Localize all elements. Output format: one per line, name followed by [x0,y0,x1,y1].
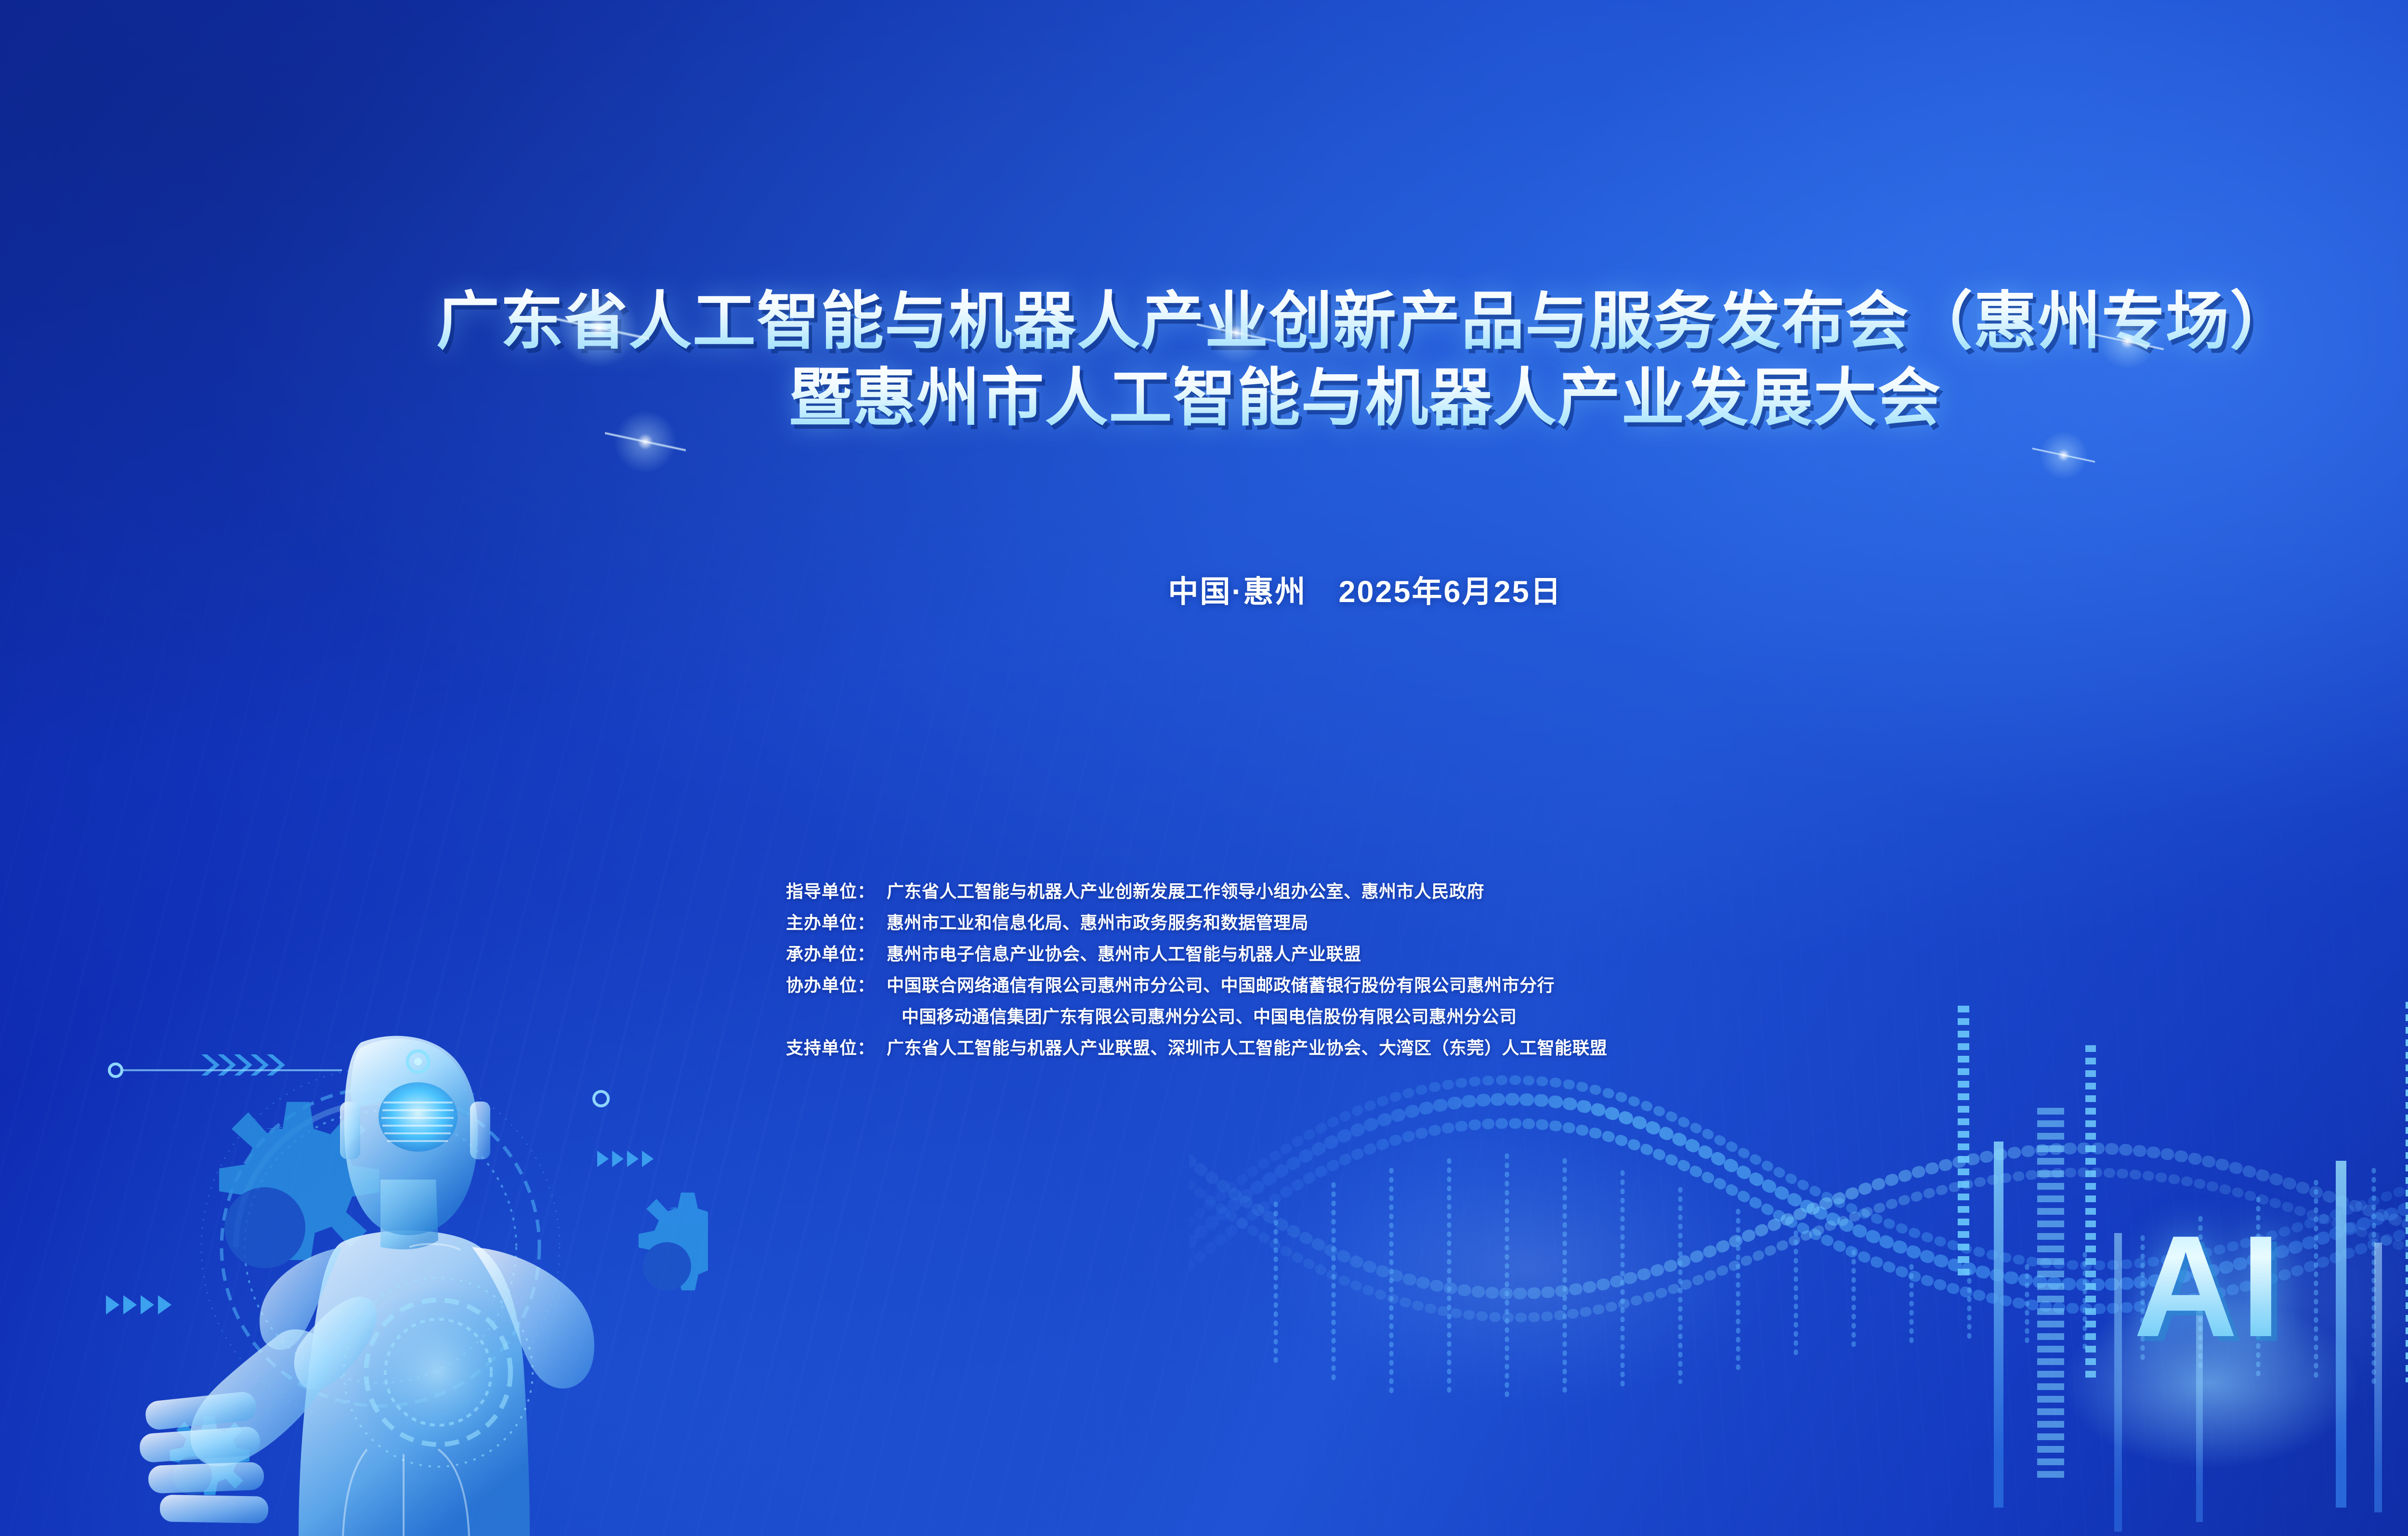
poster-canvas: AI [0,0,2408,1536]
headline-line-1: 广东省人工智能与机器人产业创新产品与服务发布会（惠州专场） [0,285,2408,357]
organizer-row-organizer: 承办单位： 惠州市电子信息产业协会、惠州市人工智能与机器人产业联盟 [786,940,2086,965]
ai-logo: AI [2133,1214,2284,1358]
organizer-label: 指导单位： [786,878,875,903]
subtitle-location-date: 中国·惠州 2025年6月25日 [0,567,2408,611]
organizer-row-host: 主办单位： 惠州市工业和信息化局、惠州市政务服务和数据管理局 [786,909,2086,934]
organizer-value: 中国移动通信集团广东有限公司惠州分公司、中国电信股份有限公司惠州分公司 [902,1003,1517,1028]
organizer-row-guidance: 指导单位： 广东省人工智能与机器人产业创新发展工作领导小组办公室、惠州市人民政府 [786,878,2086,903]
organizer-value: 惠州市工业和信息化局、惠州市政务服务和数据管理局 [887,909,1309,934]
gear-medium [639,1193,708,1290]
organizer-row-coorganizer-continued: 中国移动通信集团广东有限公司惠州分公司、中国电信股份有限公司惠州分公司 [786,1003,2086,1028]
ai-logo-text: AI [2133,1214,2284,1358]
organizer-value: 广东省人工智能与机器人产业联盟、深圳市人工智能产业协会、大湾区（东莞）人工智能联… [887,1034,1608,1059]
organizer-label: 承办单位： [786,940,875,965]
organizer-list: 指导单位： 广东省人工智能与机器人产业创新发展工作领导小组办公室、惠州市人民政府… [786,878,2086,1065]
robot-ear-right [470,1102,490,1159]
organizer-row-coorganizer: 协办单位： 中国联合网络通信有限公司惠州市分公司、中国邮政储蓄银行股份有限公司惠… [786,971,2086,997]
robot-ear-left [340,1102,360,1159]
organizer-row-support: 支持单位： 广东省人工智能与机器人产业联盟、深圳市人工智能产业协会、大湾区（东莞… [786,1034,2086,1059]
headline-block: 广东省人工智能与机器人产业创新产品与服务发布会（惠州专场） 暨惠州市人工智能与机… [0,285,2408,434]
organizer-value: 中国联合网络通信有限公司惠州市分公司、中国邮政储蓄银行股份有限公司惠州市分行 [887,971,1555,997]
organizer-label: 主办单位： [786,909,875,934]
headline-line-2: 暨惠州市人工智能与机器人产业发展大会 [0,362,2408,433]
organizer-label: 协办单位： [786,971,875,997]
organizer-label: 支持单位： [786,1034,875,1059]
robot-body [139,1036,594,1536]
organizer-value: 惠州市电子信息产业协会、惠州市人工智能与机器人产业联盟 [887,940,1361,965]
organizer-value: 广东省人工智能与机器人产业创新发展工作领导小组办公室、惠州市人民政府 [887,878,1484,903]
robot-figure [72,910,708,1536]
